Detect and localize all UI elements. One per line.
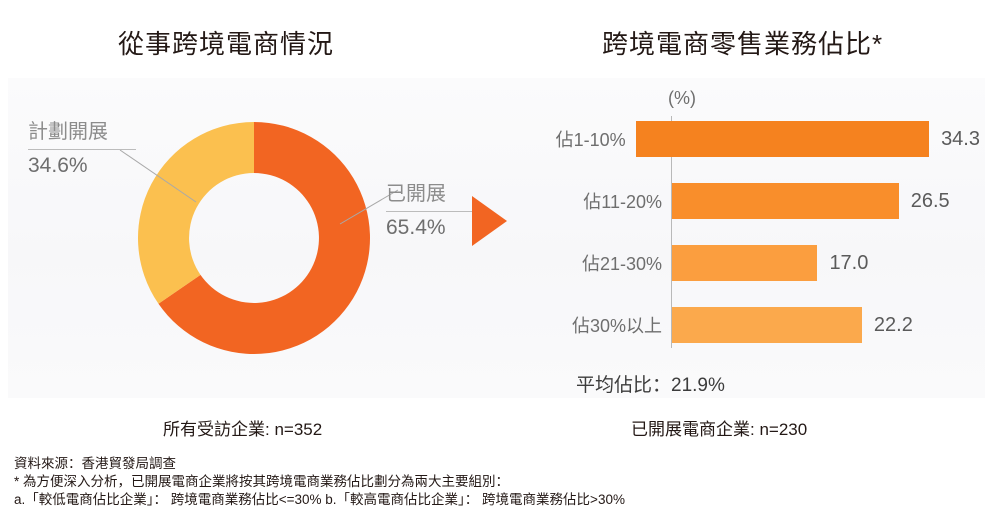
infographic-page: 從事跨境電商情況 跨境電商零售業務佔比* 計劃開展 34.6% 已開展 65.4… (0, 0, 1000, 528)
bar-chart-unit-label: (%) (668, 88, 696, 109)
footnote-asterisk: * 為方便深入分析，已開展電商企業將按其跨境電商業務佔比劃分為兩大主要組別： (14, 473, 625, 491)
bar-row: 佔11-20% 26.5 (540, 180, 980, 222)
bar-fill (672, 245, 817, 281)
bar-category-label: 佔30%以上 (540, 312, 672, 338)
donut-label-doing: 已開展 65.4% (386, 180, 478, 242)
donut-label-planned-text: 計劃開展 (28, 118, 136, 146)
footnote-source: 資料來源：香港貿發局調查 (14, 455, 625, 473)
bar-track: 34.3 (636, 118, 980, 160)
bar-fill (672, 307, 862, 343)
caption-left: 所有受訪企業: n=352 (163, 415, 322, 440)
bar-track: 26.5 (672, 180, 980, 222)
donut-label-doing-rule (386, 211, 478, 212)
bar-fill (636, 121, 929, 157)
footnote-groups: a.「較低電商佔比企業」： 跨境電商業務佔比<=30% b.「較高電商佔比企業」… (14, 491, 625, 509)
page-title-left: 從事跨境電商情況 (118, 24, 334, 61)
donut-label-doing-text: 已開展 (386, 180, 478, 208)
right-triangle-icon (472, 196, 507, 246)
bar-value-label: 17.0 (829, 252, 868, 275)
bar-fill (672, 183, 899, 219)
bar-category-label: 佔11-20% (540, 188, 672, 214)
bar-category-label: 佔1-10% (540, 126, 636, 152)
donut-label-doing-value: 65.4% (386, 214, 478, 242)
donut-label-planned-value: 34.6% (28, 152, 136, 180)
bar-value-label: 26.5 (911, 190, 950, 213)
bar-category-label: 佔21-30% (540, 250, 672, 276)
bar-value-label: 34.3 (941, 128, 980, 151)
bar-row: 佔30%以上 22.2 (540, 304, 980, 346)
caption-right: 已開展電商企業: n=230 (631, 415, 807, 440)
footnotes: 資料來源：香港貿發局調查 * 為方便深入分析，已開展電商企業將按其跨境電商業務佔… (14, 455, 625, 509)
average-share-note: 平均佔比：21.9% (576, 370, 725, 397)
bar-track: 17.0 (672, 242, 980, 284)
donut-label-planned-rule (28, 149, 136, 150)
bar-track: 22.2 (672, 304, 980, 346)
bar-value-label: 22.2 (874, 314, 913, 337)
bar-row: 佔1-10% 34.3 (540, 118, 980, 160)
donut-label-planned: 計劃開展 34.6% (28, 118, 136, 180)
page-title-right: 跨境電商零售業務佔比* (602, 24, 883, 61)
bar-row: 佔21-30% 17.0 (540, 242, 980, 284)
